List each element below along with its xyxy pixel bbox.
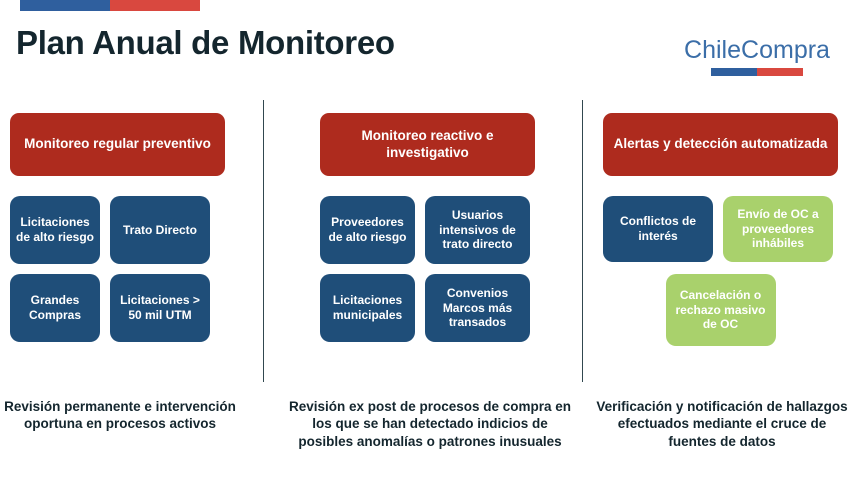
column-header-1: Monitoreo regular preventivo <box>10 113 225 176</box>
tile-grid-1: Licitaciones de alto riesgo Trato Direct… <box>10 196 225 342</box>
flag-segment-blue <box>20 0 110 11</box>
tile-conflictos-de-interes[interactable]: Conflictos de interés <box>603 196 713 262</box>
tile-trato-directo[interactable]: Trato Directo <box>110 196 210 264</box>
brand-word-compra: Compra <box>741 36 830 64</box>
page-title: Plan Anual de Monitoreo <box>16 24 395 62</box>
brand-wordmark: ChileCompra <box>677 38 837 63</box>
column-caption-3: Verificación y notificación de hallazgos… <box>594 398 849 450</box>
column-header-3: Alertas y detección automatizada <box>603 113 838 176</box>
tile-licitaciones-alto-riesgo[interactable]: Licitaciones de alto riesgo <box>10 196 100 264</box>
tile-licitaciones-municipales[interactable]: Licitaciones municipales <box>320 274 415 342</box>
column-caption-1: Revisión permanente e intervención oport… <box>0 398 240 433</box>
brand-word-chile: Chile <box>684 36 741 64</box>
chile-flag-bar-top <box>20 0 200 11</box>
tile-usuarios-intensivos-trato-directo[interactable]: Usuarios intensivos de trato directo <box>425 196 530 264</box>
column-monitoreo-regular-preventivo: Monitoreo regular preventivo Licitacione… <box>10 113 225 342</box>
tile-licitaciones-50-mil-utm[interactable]: Licitaciones > 50 mil UTM <box>110 274 210 342</box>
logo-flag-segment-blue <box>711 68 757 76</box>
tile-convenios-marcos-mas-transados[interactable]: Convenios Marcos más transados <box>425 274 530 342</box>
tile-cancelacion-rechazo-masivo-oc[interactable]: Cancelación o rechazo masivo de OC <box>666 274 776 346</box>
tile-grid-2: Proveedores de alto riesgo Usuarios inte… <box>320 196 535 342</box>
tile-envio-oc-proveedores-inhabiles[interactable]: Envío de OC a proveedores inhábiles <box>723 196 833 262</box>
logo-flag-segment-red <box>757 68 803 76</box>
tile-proveedores-alto-riesgo[interactable]: Proveedores de alto riesgo <box>320 196 415 264</box>
column-divider-2 <box>582 100 583 382</box>
tile-grid-3-bottom: Cancelación o rechazo masivo de OC <box>603 274 838 346</box>
chilecompra-logo: ChileCompra <box>677 38 837 76</box>
column-monitoreo-reactivo-investigativo: Monitoreo reactivo e investigativo Prove… <box>320 113 535 342</box>
column-header-2: Monitoreo reactivo e investigativo <box>320 113 535 176</box>
chile-flag-bar-logo <box>711 68 803 76</box>
tile-grandes-compras[interactable]: Grandes Compras <box>10 274 100 342</box>
tile-grid-3: Conflictos de interés Envío de OC a prov… <box>603 196 838 262</box>
column-caption-2: Revisión ex post de procesos de compra e… <box>288 398 572 450</box>
column-alertas-deteccion-automatizada: Alertas y detección automatizada Conflic… <box>603 113 838 346</box>
flag-segment-red <box>110 0 200 11</box>
column-divider-1 <box>263 100 264 382</box>
